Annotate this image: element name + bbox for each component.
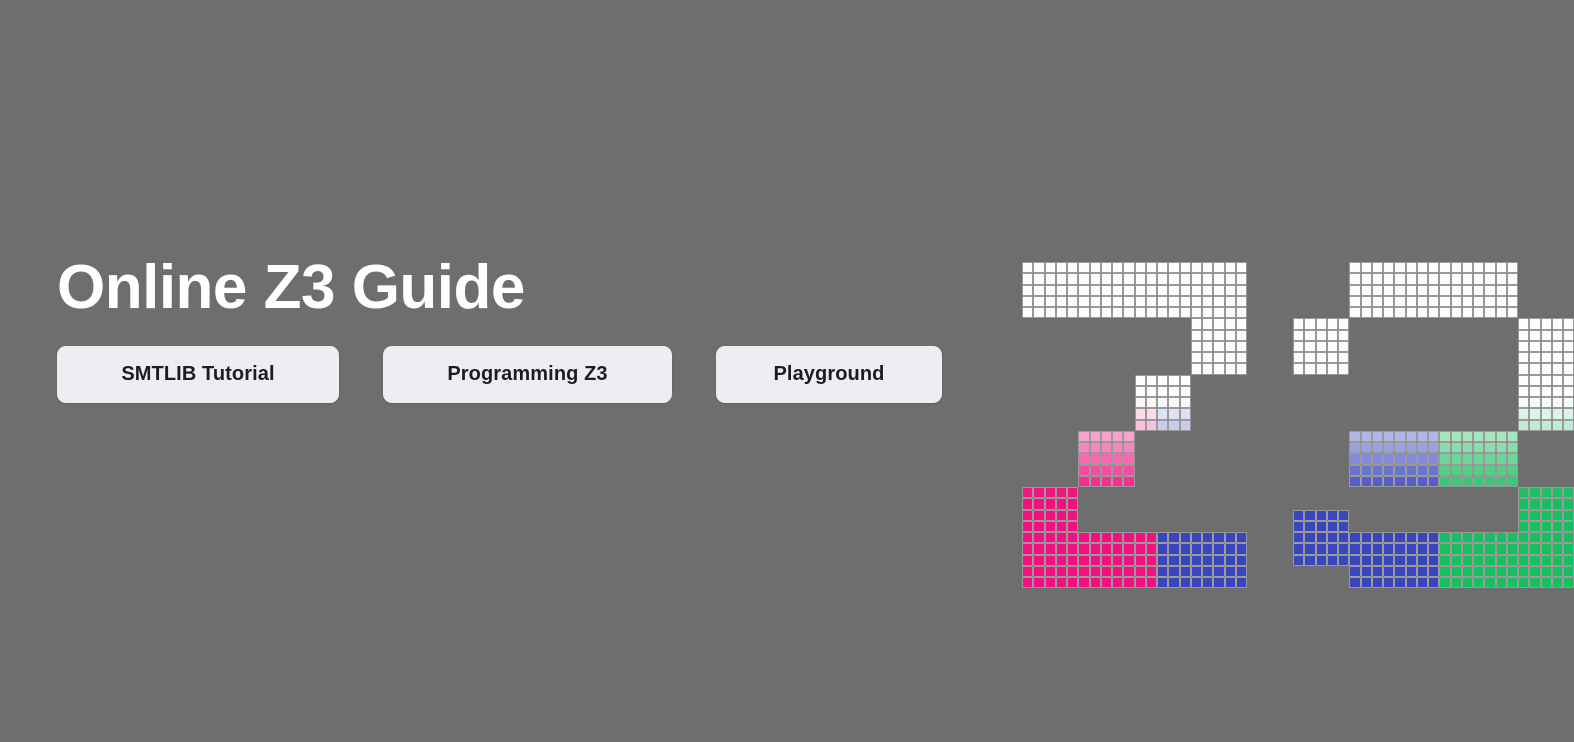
logo-pixel (1112, 453, 1123, 464)
logo-pixel (1316, 318, 1327, 329)
logo-pixel (1372, 532, 1383, 543)
logo-pixel (1022, 566, 1033, 577)
logo-pixel (1213, 577, 1224, 588)
logo-pixel (1349, 543, 1360, 554)
logo-pixel (1067, 307, 1078, 318)
logo-pixel (1101, 296, 1112, 307)
logo-pixel (1327, 521, 1338, 532)
logo-pixel (1518, 363, 1529, 374)
logo-pixel (1552, 363, 1563, 374)
logo-pixel (1563, 532, 1574, 543)
logo-pixel (1304, 543, 1315, 554)
logo-pixel (1236, 532, 1247, 543)
logo-pixel (1236, 555, 1247, 566)
logo-pixel (1202, 352, 1213, 363)
logo-pixel (1327, 363, 1338, 374)
logo-pixel (1383, 543, 1394, 554)
logo-pixel (1236, 262, 1247, 273)
logo-pixel (1213, 262, 1224, 273)
logo-pixel (1191, 341, 1202, 352)
logo-pixel (1112, 307, 1123, 318)
logo-pixel (1168, 307, 1179, 318)
logo-pixel (1045, 510, 1056, 521)
logo-pixel (1507, 431, 1518, 442)
logo-pixel (1484, 465, 1495, 476)
logo-pixel (1518, 352, 1529, 363)
logo-pixel (1518, 408, 1529, 419)
logo-pixel (1406, 577, 1417, 588)
logo-pixel (1383, 465, 1394, 476)
logo-pixel (1563, 543, 1574, 554)
logo-pixel (1541, 498, 1552, 509)
logo-pixel (1213, 318, 1224, 329)
logo-pixel (1045, 532, 1056, 543)
logo-pixel (1045, 577, 1056, 588)
logo-pixel (1541, 408, 1552, 419)
logo-pixel (1563, 498, 1574, 509)
logo-pixel (1225, 566, 1236, 577)
logo-pixel (1225, 543, 1236, 554)
logo-pixel (1552, 487, 1563, 498)
logo-pixel (1180, 543, 1191, 554)
logo-pixel (1496, 476, 1507, 487)
logo-pixel (1507, 296, 1518, 307)
logo-pixel (1563, 566, 1574, 577)
logo-pixel (1349, 577, 1360, 588)
logo-pixel (1213, 555, 1224, 566)
logo-pixel (1349, 453, 1360, 464)
logo-pixel (1541, 566, 1552, 577)
logo-pixel (1406, 543, 1417, 554)
logo-pixel (1191, 543, 1202, 554)
logo-pixel (1327, 318, 1338, 329)
logo-pixel (1033, 307, 1044, 318)
logo-pixel (1563, 577, 1574, 588)
logo-pixel (1529, 521, 1540, 532)
logo-pixel (1225, 341, 1236, 352)
logo-pixel (1078, 431, 1089, 442)
logo-pixel (1428, 273, 1439, 284)
logo-pixel (1191, 318, 1202, 329)
logo-pixel (1496, 431, 1507, 442)
logo-pixel (1090, 453, 1101, 464)
logo-pixel (1541, 420, 1552, 431)
logo-pixel (1316, 341, 1327, 352)
logo-pixel (1078, 476, 1089, 487)
logo-pixel (1316, 330, 1327, 341)
logo-pixel (1078, 532, 1089, 543)
logo-pixel (1180, 386, 1191, 397)
logo-pixel (1191, 330, 1202, 341)
logo-pixel (1496, 566, 1507, 577)
logo-pixel (1563, 352, 1574, 363)
playground-button[interactable]: Playground (716, 346, 942, 403)
logo-pixel (1135, 375, 1146, 386)
logo-pixel (1236, 543, 1247, 554)
logo-pixel (1045, 566, 1056, 577)
logo-pixel (1563, 510, 1574, 521)
logo-pixel (1191, 532, 1202, 543)
logo-pixel (1123, 307, 1134, 318)
logo-pixel (1361, 532, 1372, 543)
logo-pixel (1056, 543, 1067, 554)
logo-pixel (1361, 296, 1372, 307)
logo-pixel (1451, 555, 1462, 566)
logo-pixel (1180, 375, 1191, 386)
logo-pixel (1168, 408, 1179, 419)
logo-pixel (1327, 352, 1338, 363)
logo-pixel (1146, 566, 1157, 577)
logo-pixel (1056, 273, 1067, 284)
logo-pixel (1417, 273, 1428, 284)
logo-pixel (1349, 532, 1360, 543)
logo-pixel (1518, 341, 1529, 352)
logo-pixel (1462, 465, 1473, 476)
logo-pixel (1394, 296, 1405, 307)
logo-pixel (1439, 476, 1450, 487)
logo-pixel (1406, 453, 1417, 464)
logo-pixel (1372, 262, 1383, 273)
logo-pixel (1168, 566, 1179, 577)
logo-pixel (1507, 262, 1518, 273)
logo-pixel (1563, 318, 1574, 329)
logo-pixel (1473, 442, 1484, 453)
logo-pixel (1123, 543, 1134, 554)
logo-pixel (1541, 363, 1552, 374)
logo-pixel (1225, 352, 1236, 363)
logo-pixel (1372, 296, 1383, 307)
logo-pixel (1123, 431, 1134, 442)
logo-pixel (1473, 296, 1484, 307)
logo-pixel (1067, 566, 1078, 577)
logo-pixel (1022, 532, 1033, 543)
logo-pixel (1417, 431, 1428, 442)
logo-pixel (1406, 476, 1417, 487)
logo-pixel (1496, 532, 1507, 543)
logo-pixel (1529, 498, 1540, 509)
logo-pixel (1168, 273, 1179, 284)
logo-pixel (1033, 566, 1044, 577)
logo-pixel (1518, 577, 1529, 588)
logo-pixel (1417, 543, 1428, 554)
logo-pixel (1372, 307, 1383, 318)
logo-pixel (1439, 262, 1450, 273)
logo-pixel (1541, 375, 1552, 386)
logo-pixel (1045, 555, 1056, 566)
logo-pixel (1349, 431, 1360, 442)
logo-pixel (1157, 262, 1168, 273)
logo-pixel (1157, 555, 1168, 566)
logo-pixel (1078, 453, 1089, 464)
logo-pixel (1349, 296, 1360, 307)
logo-pixel (1146, 532, 1157, 543)
logo-pixel (1361, 285, 1372, 296)
logo-pixel (1406, 442, 1417, 453)
logo-pixel (1168, 262, 1179, 273)
logo-pixel (1022, 487, 1033, 498)
logo-pixel (1191, 555, 1202, 566)
logo-pixel (1394, 465, 1405, 476)
logo-pixel (1056, 532, 1067, 543)
logo-pixel (1135, 420, 1146, 431)
logo-pixel (1090, 262, 1101, 273)
logo-pixel (1090, 296, 1101, 307)
logo-pixel (1518, 532, 1529, 543)
logo-pixel (1202, 543, 1213, 554)
logo-pixel (1191, 577, 1202, 588)
logo-pixel (1180, 273, 1191, 284)
logo-pixel (1293, 521, 1304, 532)
logo-pixel (1496, 273, 1507, 284)
logo-pixel (1101, 532, 1112, 543)
logo-pixel (1462, 577, 1473, 588)
logo-pixel (1180, 307, 1191, 318)
logo-pixel (1529, 532, 1540, 543)
logo-pixel (1033, 543, 1044, 554)
logo-pixel (1417, 555, 1428, 566)
logo-pixel (1349, 307, 1360, 318)
logo-pixel (1439, 577, 1450, 588)
logo-pixel (1462, 476, 1473, 487)
logo-pixel (1507, 273, 1518, 284)
logo-pixel (1146, 408, 1157, 419)
logo-pixel (1316, 555, 1327, 566)
logo-pixel (1484, 442, 1495, 453)
logo-pixel (1338, 555, 1349, 566)
logo-pixel (1484, 453, 1495, 464)
logo-pixel (1135, 386, 1146, 397)
logo-pixel (1101, 442, 1112, 453)
logo-pixel (1541, 330, 1552, 341)
logo-pixel (1213, 296, 1224, 307)
logo-pixel (1451, 532, 1462, 543)
logo-pixel (1394, 555, 1405, 566)
logo-pixel (1316, 363, 1327, 374)
logo-pixel (1349, 262, 1360, 273)
logo-pixel (1112, 285, 1123, 296)
logo-pixel (1225, 285, 1236, 296)
logo-pixel (1202, 363, 1213, 374)
logo-pixel (1439, 543, 1450, 554)
logo-pixel (1033, 510, 1044, 521)
logo-pixel (1213, 532, 1224, 543)
logo-pixel (1168, 296, 1179, 307)
logo-pixel (1225, 307, 1236, 318)
logo-pixel (1022, 521, 1033, 532)
logo-pixel (1484, 431, 1495, 442)
logo-pixel (1225, 273, 1236, 284)
logo-pixel (1383, 262, 1394, 273)
logo-pixel (1552, 498, 1563, 509)
logo-pixel (1541, 521, 1552, 532)
logo-pixel (1451, 453, 1462, 464)
logo-pixel (1507, 532, 1518, 543)
logo-pixel (1563, 487, 1574, 498)
logo-pixel (1462, 442, 1473, 453)
logo-pixel (1428, 307, 1439, 318)
logo-pixel (1101, 453, 1112, 464)
logo-pixel (1462, 296, 1473, 307)
logo-pixel (1462, 566, 1473, 577)
logo-pixel (1406, 285, 1417, 296)
logo-pixel (1101, 307, 1112, 318)
logo-pixel (1191, 363, 1202, 374)
logo-pixel (1056, 510, 1067, 521)
logo-pixel (1112, 532, 1123, 543)
logo-pixel (1112, 555, 1123, 566)
logo-pixel (1067, 577, 1078, 588)
logo-pixel (1022, 307, 1033, 318)
logo-pixel (1225, 296, 1236, 307)
logo-pixel (1383, 453, 1394, 464)
logo-pixel (1180, 285, 1191, 296)
logo-pixel (1518, 555, 1529, 566)
logo-pixel (1552, 375, 1563, 386)
logo-pixel (1180, 577, 1191, 588)
logo-pixel (1552, 521, 1563, 532)
logo-pixel (1417, 442, 1428, 453)
logo-pixel (1123, 555, 1134, 566)
logo-pixel (1202, 555, 1213, 566)
logo-pixel (1451, 465, 1462, 476)
logo-pixel (1507, 307, 1518, 318)
logo-pixel (1451, 307, 1462, 318)
logo-pixel (1361, 442, 1372, 453)
logo-pixel (1473, 431, 1484, 442)
logo-pixel (1180, 397, 1191, 408)
logo-pixel (1101, 555, 1112, 566)
logo-pixel (1236, 285, 1247, 296)
logo-pixel (1473, 273, 1484, 284)
logo-pixel (1518, 375, 1529, 386)
logo-pixel (1552, 341, 1563, 352)
logo-pixel (1552, 397, 1563, 408)
logo-pixel (1507, 577, 1518, 588)
logo-pixel (1496, 577, 1507, 588)
logo-pixel (1394, 543, 1405, 554)
logo-pixel (1439, 442, 1450, 453)
logo-pixel (1417, 453, 1428, 464)
logo-pixel (1135, 408, 1146, 419)
logo-pixel (1293, 352, 1304, 363)
logo-pixel (1225, 318, 1236, 329)
logo-pixel (1236, 577, 1247, 588)
logo-pixel (1191, 566, 1202, 577)
logo-pixel (1168, 577, 1179, 588)
logo-pixel (1428, 465, 1439, 476)
logo-pixel (1056, 307, 1067, 318)
logo-pixel (1394, 577, 1405, 588)
programming-z3-button[interactable]: Programming Z3 (383, 346, 672, 403)
logo-pixel (1563, 521, 1574, 532)
logo-pixel (1451, 273, 1462, 284)
logo-pixel (1202, 566, 1213, 577)
logo-pixel (1496, 285, 1507, 296)
logo-pixel (1067, 510, 1078, 521)
logo-pixel (1496, 296, 1507, 307)
logo-pixel (1327, 543, 1338, 554)
logo-pixel (1078, 543, 1089, 554)
logo-pixel (1168, 555, 1179, 566)
logo-pixel (1202, 262, 1213, 273)
logo-pixel (1417, 285, 1428, 296)
logo-pixel (1135, 307, 1146, 318)
logo-pixel (1496, 442, 1507, 453)
logo-pixel (1067, 296, 1078, 307)
logo-pixel (1406, 555, 1417, 566)
logo-pixel (1236, 273, 1247, 284)
logo-pixel (1180, 566, 1191, 577)
logo-pixel (1180, 296, 1191, 307)
logo-pixel (1090, 285, 1101, 296)
logo-pixel (1168, 375, 1179, 386)
logo-pixel (1439, 566, 1450, 577)
hero-section: Online Z3 Guide SMTLIB Tutorial Programm… (0, 0, 1574, 742)
logo-pixel (1439, 285, 1450, 296)
logo-pixel (1202, 532, 1213, 543)
logo-pixel (1146, 386, 1157, 397)
logo-pixel (1202, 273, 1213, 284)
logo-pixel (1507, 555, 1518, 566)
logo-pixel (1123, 453, 1134, 464)
logo-pixel (1563, 330, 1574, 341)
logo-pixel (1428, 566, 1439, 577)
logo-pixel (1293, 532, 1304, 543)
logo-pixel (1518, 397, 1529, 408)
logo-pixel (1056, 555, 1067, 566)
logo-pixel (1157, 420, 1168, 431)
logo-pixel (1056, 498, 1067, 509)
logo-pixel (1428, 296, 1439, 307)
logo-pixel (1146, 555, 1157, 566)
logo-pixel (1406, 431, 1417, 442)
logo-pixel (1428, 476, 1439, 487)
logo-pixel (1372, 442, 1383, 453)
smtlib-tutorial-button[interactable]: SMTLIB Tutorial (57, 346, 339, 403)
logo-pixel (1518, 420, 1529, 431)
logo-pixel (1439, 453, 1450, 464)
logo-pixel (1180, 555, 1191, 566)
logo-pixel (1135, 543, 1146, 554)
logo-pixel (1361, 577, 1372, 588)
logo-pixel (1078, 442, 1089, 453)
logo-pixel (1213, 341, 1224, 352)
logo-pixel (1180, 262, 1191, 273)
logo-pixel (1123, 577, 1134, 588)
logo-pixel (1439, 465, 1450, 476)
logo-pixel (1518, 521, 1529, 532)
logo-pixel (1451, 262, 1462, 273)
logo-pixel (1157, 285, 1168, 296)
logo-pixel (1022, 285, 1033, 296)
logo-pixel (1383, 431, 1394, 442)
logo-pixel (1191, 273, 1202, 284)
logo-pixel (1552, 532, 1563, 543)
logo-pixel (1135, 397, 1146, 408)
logo-pixel (1022, 262, 1033, 273)
logo-pixel (1484, 577, 1495, 588)
logo-pixel (1067, 543, 1078, 554)
logo-pixel (1090, 566, 1101, 577)
logo-pixel (1451, 577, 1462, 588)
logo-pixel (1202, 318, 1213, 329)
logo-pixel (1067, 273, 1078, 284)
logo-pixel (1112, 476, 1123, 487)
logo-pixel (1563, 363, 1574, 374)
logo-pixel (1406, 273, 1417, 284)
logo-pixel (1462, 555, 1473, 566)
logo-pixel (1406, 307, 1417, 318)
